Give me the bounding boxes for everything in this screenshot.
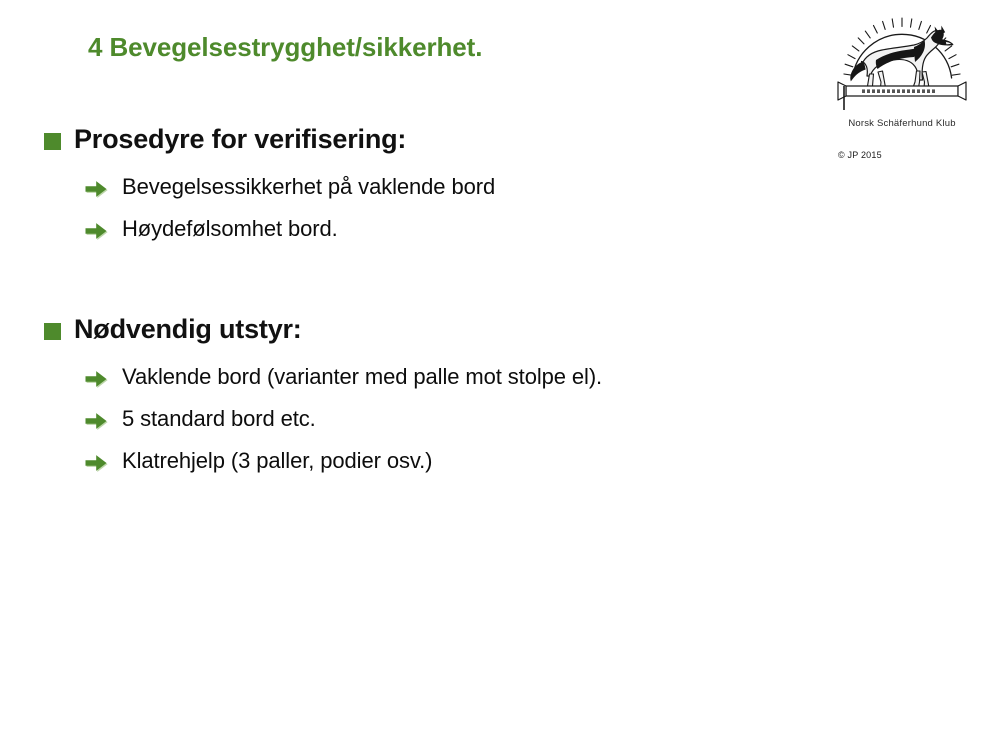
green-square-bullet-icon: [44, 323, 61, 340]
copyright-notice: © JP 2015: [838, 150, 978, 160]
list-item: Klatrehjelp (3 paller, podier osv.): [84, 448, 824, 475]
list-item: Vaklende bord (varianter med palle mot s…: [84, 364, 824, 391]
green-arrow-bullet-icon: [84, 451, 108, 475]
slide-canvas: 4 Bevegelsestrygghet/sikkerhet. Prosedyr…: [0, 0, 1000, 750]
section-heading-nodvendig-utstyr: Nødvendig utstyr:: [44, 314, 804, 345]
slide-body: Prosedyre for verifisering: Bevegelsessi…: [0, 0, 820, 750]
list-item-label: Klatrehjelp (3 paller, podier osv.): [122, 448, 432, 474]
green-arrow-bullet-icon: [84, 219, 108, 243]
list-item: 5 standard bord etc.: [84, 406, 824, 433]
section-heading-label: Nødvendig utstyr:: [74, 314, 302, 345]
green-arrow-bullet-icon: [84, 409, 108, 433]
list-item: Bevegelsessikkerhet på vaklende bord: [84, 174, 824, 201]
german-shepherd-club-logo-icon: [832, 16, 972, 116]
list-item-label: Høydefølsomhet bord.: [122, 216, 338, 242]
club-logo: Norsk Schäferhund Klub: [828, 16, 976, 129]
club-logo-caption: Norsk Schäferhund Klub: [828, 118, 976, 129]
green-square-bullet-icon: [44, 133, 61, 150]
list-item-label: Vaklende bord (varianter med palle mot s…: [122, 364, 602, 390]
list-item: Høydefølsomhet bord.: [84, 216, 824, 243]
green-arrow-bullet-icon: [84, 367, 108, 391]
green-arrow-bullet-icon: [84, 177, 108, 201]
section-heading-prosedyre: Prosedyre for verifisering:: [44, 124, 804, 155]
list-item-label: 5 standard bord etc.: [122, 406, 316, 432]
section-heading-label: Prosedyre for verifisering:: [74, 124, 406, 155]
list-item-label: Bevegelsessikkerhet på vaklende bord: [122, 174, 495, 200]
